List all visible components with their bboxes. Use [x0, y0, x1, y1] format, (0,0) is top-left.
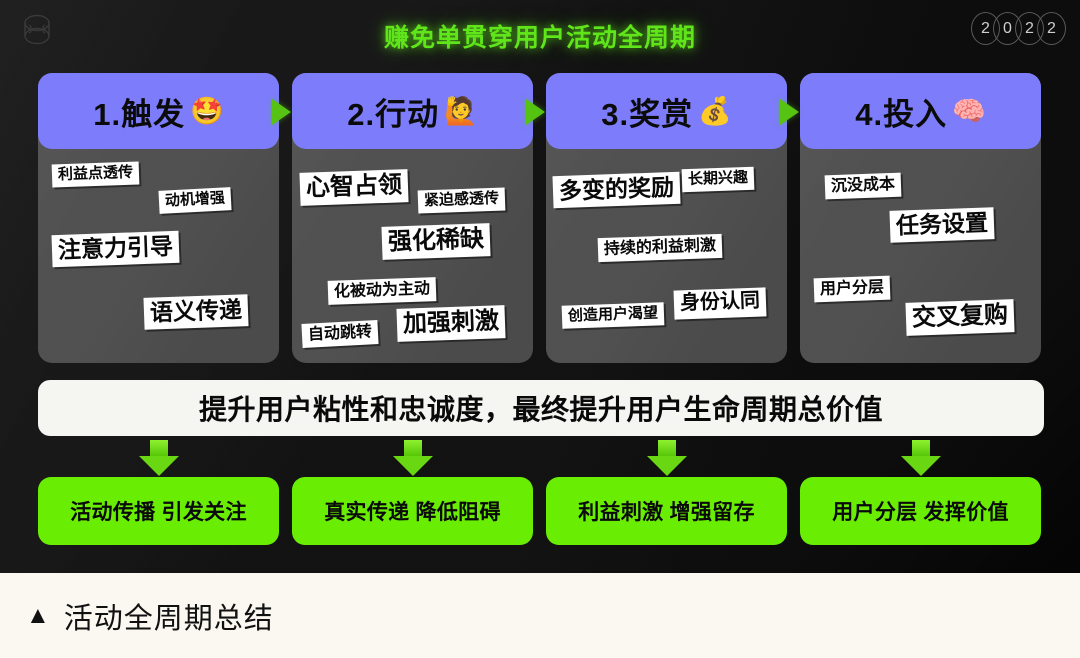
raising-hand-emoji: 🙋	[444, 95, 478, 127]
stage-card-4[interactable]: 4.投入🧠沉没成本任务设置用户分层交叉复购	[800, 73, 1041, 363]
outcome-box-3[interactable]: 利益刺激 增强留存	[546, 477, 787, 545]
footer-caption: 活动全周期总结	[64, 595, 274, 637]
stage-tag[interactable]: 创造用户渴望	[562, 302, 665, 329]
down-arrow-icon	[901, 440, 941, 476]
stage-title: 1.触发	[93, 89, 185, 134]
stage-tag-list: 多变的奖励长期兴趣持续的利益刺激创造用户渴望身份认同	[546, 149, 787, 363]
brain-emoji: 🧠	[952, 95, 986, 127]
stage-card-1[interactable]: 1.触发🤩利益点透传动机增强注意力引导语义传递	[38, 73, 279, 363]
stage-tag[interactable]: 沉没成本	[825, 173, 902, 200]
slide-footer: ▲ 活动全周期总结	[0, 573, 1080, 658]
stage-tag[interactable]: 紧迫感透传	[418, 187, 506, 213]
outcome-box-1[interactable]: 活动传播 引发关注	[38, 477, 279, 545]
stage-tag[interactable]: 身份认同	[674, 287, 767, 319]
stage-card-2[interactable]: 2.行动🙋心智占领紧迫感透传强化稀缺化被动为主动自动跳转加强刺激	[292, 73, 533, 363]
outcome-box-4[interactable]: 用户分层 发挥价值	[800, 477, 1041, 545]
stage-tag-list: 沉没成本任务设置用户分层交叉复购	[800, 149, 1041, 363]
outcome-row: 活动传播 引发关注真实传递 降低阻碍利益刺激 增强留存用户分层 发挥价值	[38, 477, 1044, 545]
money-bag-emoji: 💰	[698, 95, 732, 127]
stage-tag[interactable]: 语义传递	[143, 294, 248, 329]
triangle-bullet-icon: ▲	[26, 604, 50, 628]
outcome-label: 用户分层 发挥价值	[832, 496, 1009, 526]
year-digit: 2	[1037, 12, 1066, 45]
outcome-label: 利益刺激 增强留存	[578, 496, 755, 526]
summary-banner: 提升用户粘性和忠诚度，最终提升用户生命周期总价值	[38, 380, 1044, 436]
slide-root: 赚免单贯穿用户活动全周期 2 0 2 2 1.触发🤩利益点透传动机增强注意力引导…	[0, 0, 1080, 658]
stage-tag[interactable]: 加强刺激	[396, 305, 505, 342]
flow-arrow-right-icon	[526, 99, 545, 125]
stage-tag[interactable]: 持续的利益刺激	[598, 234, 723, 263]
stage-tag[interactable]: 注意力引导	[51, 231, 179, 267]
stage-tag[interactable]: 任务设置	[889, 207, 994, 242]
stage-tag[interactable]: 动机增强	[158, 187, 231, 214]
stage-title: 4.投入	[855, 89, 947, 134]
stage-card-3[interactable]: 3.奖赏💰多变的奖励长期兴趣持续的利益刺激创造用户渴望身份认同	[546, 73, 787, 363]
stage-title: 3.奖赏	[601, 89, 693, 134]
stage-tag[interactable]: 自动跳转	[301, 320, 378, 348]
star-struck-emoji: 🤩	[190, 95, 224, 127]
year-badge: 2 0 2 2	[978, 12, 1066, 45]
down-arrow-icon	[647, 440, 687, 476]
down-arrow-icon	[139, 440, 179, 476]
page-title: 赚免单贯穿用户活动全周期	[0, 18, 1080, 54]
stage-tag[interactable]: 化被动为主动	[328, 277, 437, 305]
stage-header-2[interactable]: 2.行动🙋	[292, 73, 533, 149]
summary-text: 提升用户粘性和忠诚度，最终提升用户生命周期总价值	[199, 388, 883, 428]
stage-tag-list: 利益点透传动机增强注意力引导语义传递	[38, 149, 279, 363]
stage-tag[interactable]: 交叉复购	[905, 299, 1014, 336]
slide-header: 赚免单贯穿用户活动全周期 2 0 2 2	[0, 0, 1080, 64]
stage-header-1[interactable]: 1.触发🤩	[38, 73, 279, 149]
flow-arrow-right-icon	[780, 99, 799, 125]
stage-tag[interactable]: 长期兴趣	[682, 167, 755, 193]
down-arrow-icon	[393, 440, 433, 476]
stage-tag[interactable]: 强化稀缺	[381, 223, 490, 260]
outcome-label: 活动传播 引发关注	[70, 496, 247, 526]
stage-columns: 1.触发🤩利益点透传动机增强注意力引导语义传递2.行动🙋心智占领紧迫感透传强化稀…	[38, 73, 1044, 363]
stage-tag[interactable]: 用户分层	[814, 276, 891, 303]
stage-tag[interactable]: 利益点透传	[52, 161, 140, 187]
stage-title: 2.行动	[347, 89, 439, 134]
stage-tag[interactable]: 心智占领	[299, 169, 408, 206]
stage-header-3[interactable]: 3.奖赏💰	[546, 73, 787, 149]
stage-tag[interactable]: 多变的奖励	[552, 172, 680, 208]
outcome-box-2[interactable]: 真实传递 降低阻碍	[292, 477, 533, 545]
stage-tag-list: 心智占领紧迫感透传强化稀缺化被动为主动自动跳转加强刺激	[292, 149, 533, 363]
outcome-label: 真实传递 降低阻碍	[324, 496, 501, 526]
stage-header-4[interactable]: 4.投入🧠	[800, 73, 1041, 149]
flow-arrow-right-icon	[272, 99, 291, 125]
